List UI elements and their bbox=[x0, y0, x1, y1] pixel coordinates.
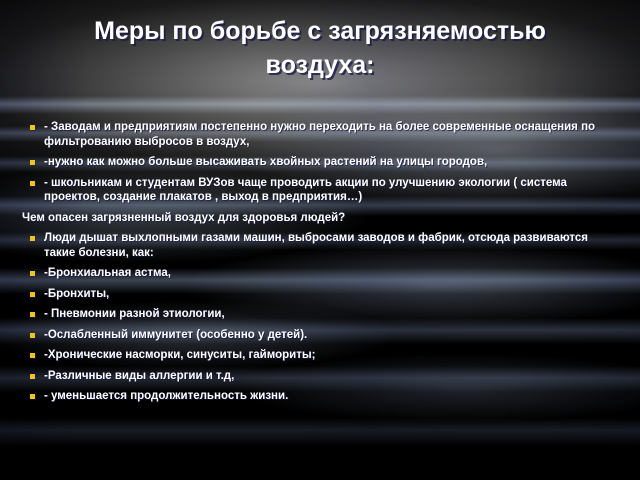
bullet-item: - Заводам и предприятиям постепенно нужн… bbox=[0, 120, 640, 149]
bullet-item: -нужно как можно больше высаживать хвойн… bbox=[0, 155, 640, 170]
bullet-item: Люди дышат выхлопными газами машин, выбр… bbox=[0, 231, 640, 260]
bullet-item: -Бронхиальная астма, bbox=[0, 266, 640, 281]
bullet-item: - уменьшается продолжительность жизни. bbox=[0, 389, 640, 404]
bullet-item: - школьникам и студентам ВУЗов чаще пров… bbox=[0, 176, 640, 205]
bullet-item: -Хронические насморки, синуситы, гаймори… bbox=[0, 348, 640, 363]
paragraph-item: Чем опасен загрязненный воздух для здоро… bbox=[0, 211, 640, 226]
bullet-item: -Бронхиты, bbox=[0, 287, 640, 302]
bullet-item: -Различные виды аллергии и т.д, bbox=[0, 369, 640, 384]
slide-title: Меры по борьбе с загрязняемостью воздуха… bbox=[40, 14, 600, 82]
presentation-slide: Меры по борьбе с загрязняемостью воздуха… bbox=[0, 0, 640, 480]
slide-body: - Заводам и предприятиям постепенно нужн… bbox=[0, 120, 640, 410]
bullet-item: -Ослабленный иммунитет (особенно у детей… bbox=[0, 328, 640, 343]
bullet-item: - Пневмонии разной этиологии, bbox=[0, 307, 640, 322]
